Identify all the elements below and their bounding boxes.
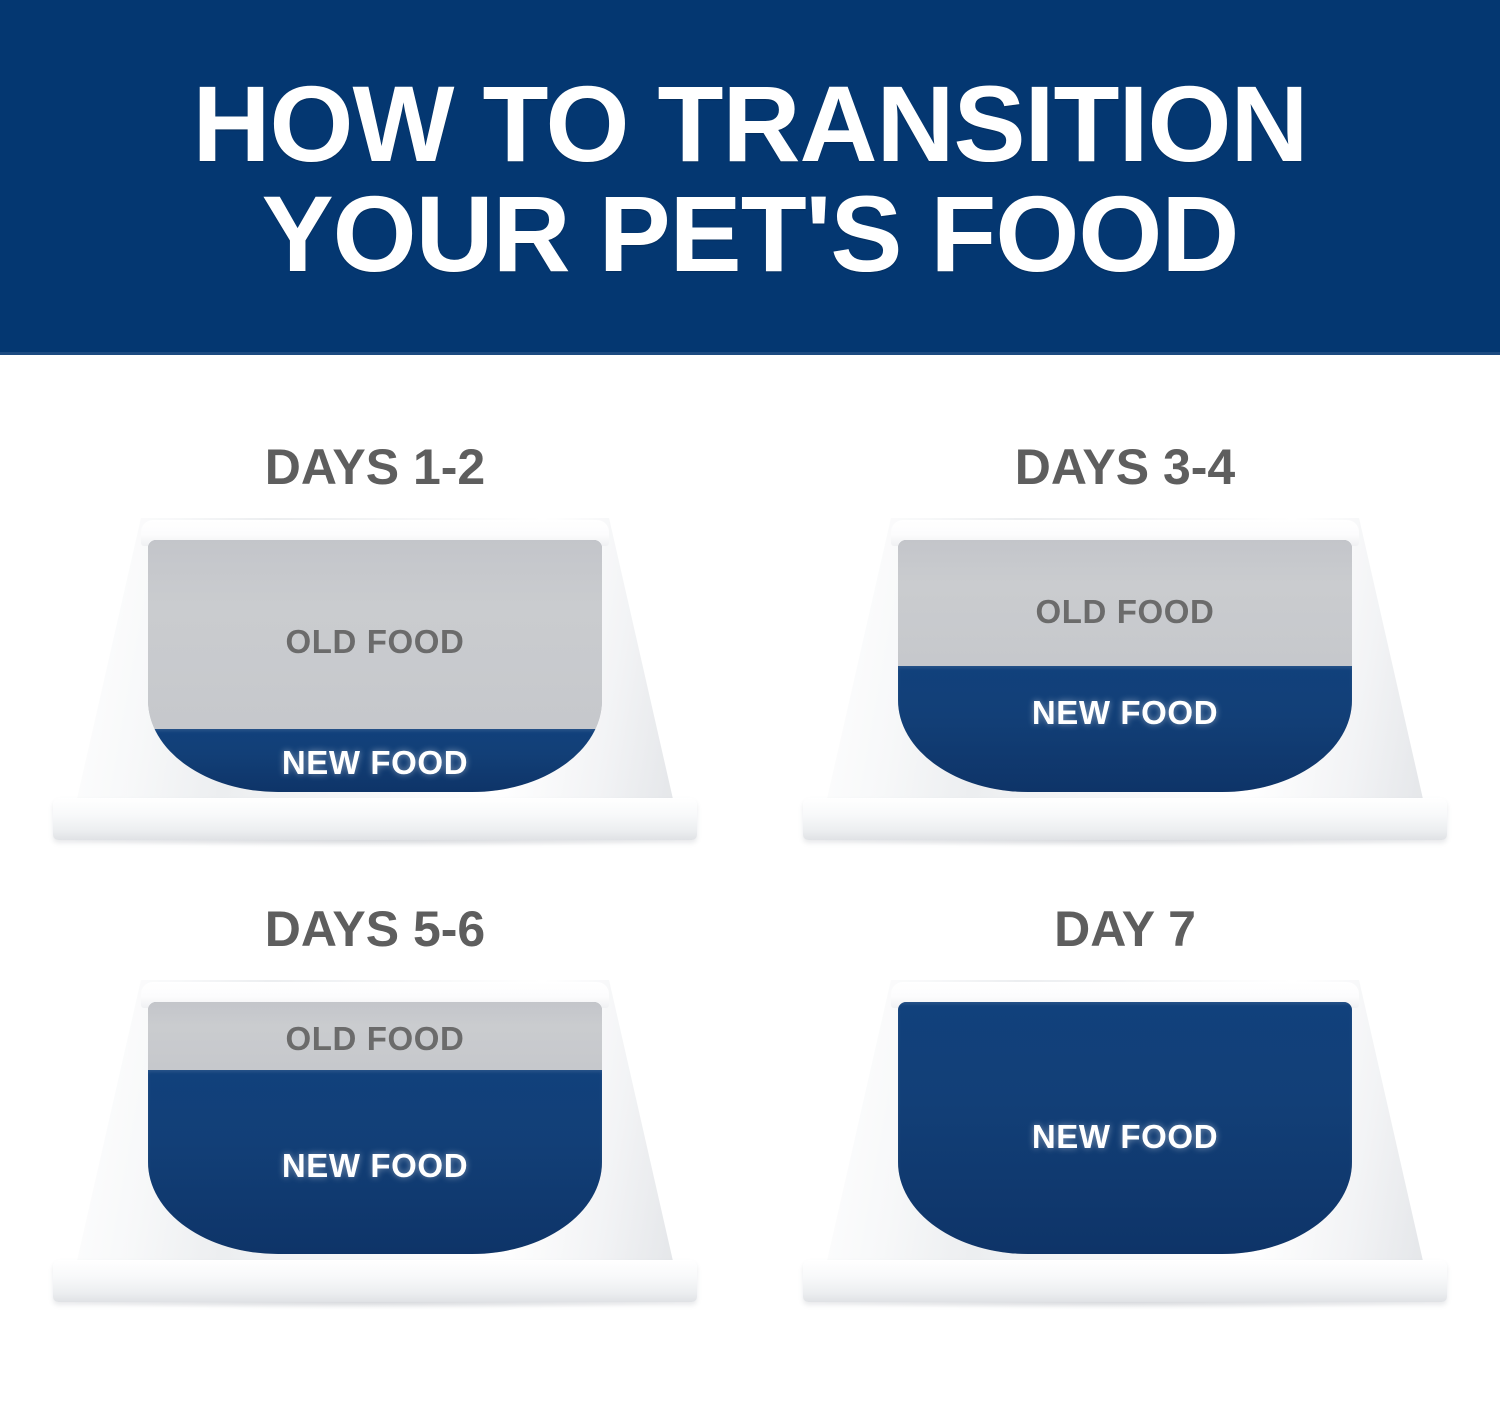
step-1-day-label: DAYS 1-2 — [265, 438, 485, 496]
new-food-fill: NEW FOOD — [898, 666, 1352, 792]
old-food-label: OLD FOOD — [148, 623, 602, 661]
step-2-food-bowl: OLD FOOD NEW FOOD — [795, 518, 1455, 848]
new-food-fill: NEW FOOD — [898, 1002, 1352, 1254]
transition-step-1: DAYS 1-2 OLD FOOD NEW FOOD — [0, 355, 750, 878]
bowl-base — [803, 1260, 1447, 1302]
new-food-label: NEW FOOD — [898, 1118, 1352, 1156]
transition-steps-grid: DAYS 1-2 OLD FOOD NEW FOOD DAYS 3-4 OLD — [0, 355, 1500, 1401]
bowl-cavity: NEW FOOD — [898, 1002, 1352, 1254]
bowl-base — [53, 1260, 697, 1302]
bowl-cavity: OLD FOOD NEW FOOD — [898, 540, 1352, 792]
old-food-fill: OLD FOOD — [148, 1002, 602, 1070]
bowl-cavity: OLD FOOD NEW FOOD — [148, 1002, 602, 1254]
bowl-cavity: OLD FOOD NEW FOOD — [148, 540, 602, 792]
new-food-fill: NEW FOOD — [148, 1070, 602, 1254]
transition-step-4: DAY 7 NEW FOOD — [750, 878, 1500, 1401]
bowl-base — [803, 798, 1447, 840]
new-food-fill: NEW FOOD — [148, 729, 602, 792]
step-3-day-label: DAYS 5-6 — [265, 900, 485, 958]
step-4-day-label: DAY 7 — [1054, 900, 1196, 958]
old-food-label: OLD FOOD — [898, 593, 1352, 631]
transition-step-3: DAYS 5-6 OLD FOOD NEW FOOD — [0, 878, 750, 1401]
page-title-line-2: YOUR PET'S FOOD — [262, 182, 1239, 286]
new-food-label: NEW FOOD — [148, 1147, 602, 1185]
new-food-label: NEW FOOD — [898, 694, 1352, 732]
old-food-fill: OLD FOOD — [148, 540, 602, 729]
old-food-fill: OLD FOOD — [898, 540, 1352, 666]
step-1-food-bowl: OLD FOOD NEW FOOD — [45, 518, 705, 848]
new-food-label: NEW FOOD — [148, 744, 602, 782]
page-title-line-1: HOW TO TRANSITION — [193, 72, 1308, 176]
step-3-food-bowl: OLD FOOD NEW FOOD — [45, 980, 705, 1310]
step-2-day-label: DAYS 3-4 — [1015, 438, 1235, 496]
header-banner: HOW TO TRANSITION YOUR PET'S FOOD — [0, 0, 1500, 355]
bowl-base — [53, 798, 697, 840]
old-food-label: OLD FOOD — [148, 1020, 602, 1058]
step-4-food-bowl: NEW FOOD — [795, 980, 1455, 1310]
transition-step-2: DAYS 3-4 OLD FOOD NEW FOOD — [750, 355, 1500, 878]
